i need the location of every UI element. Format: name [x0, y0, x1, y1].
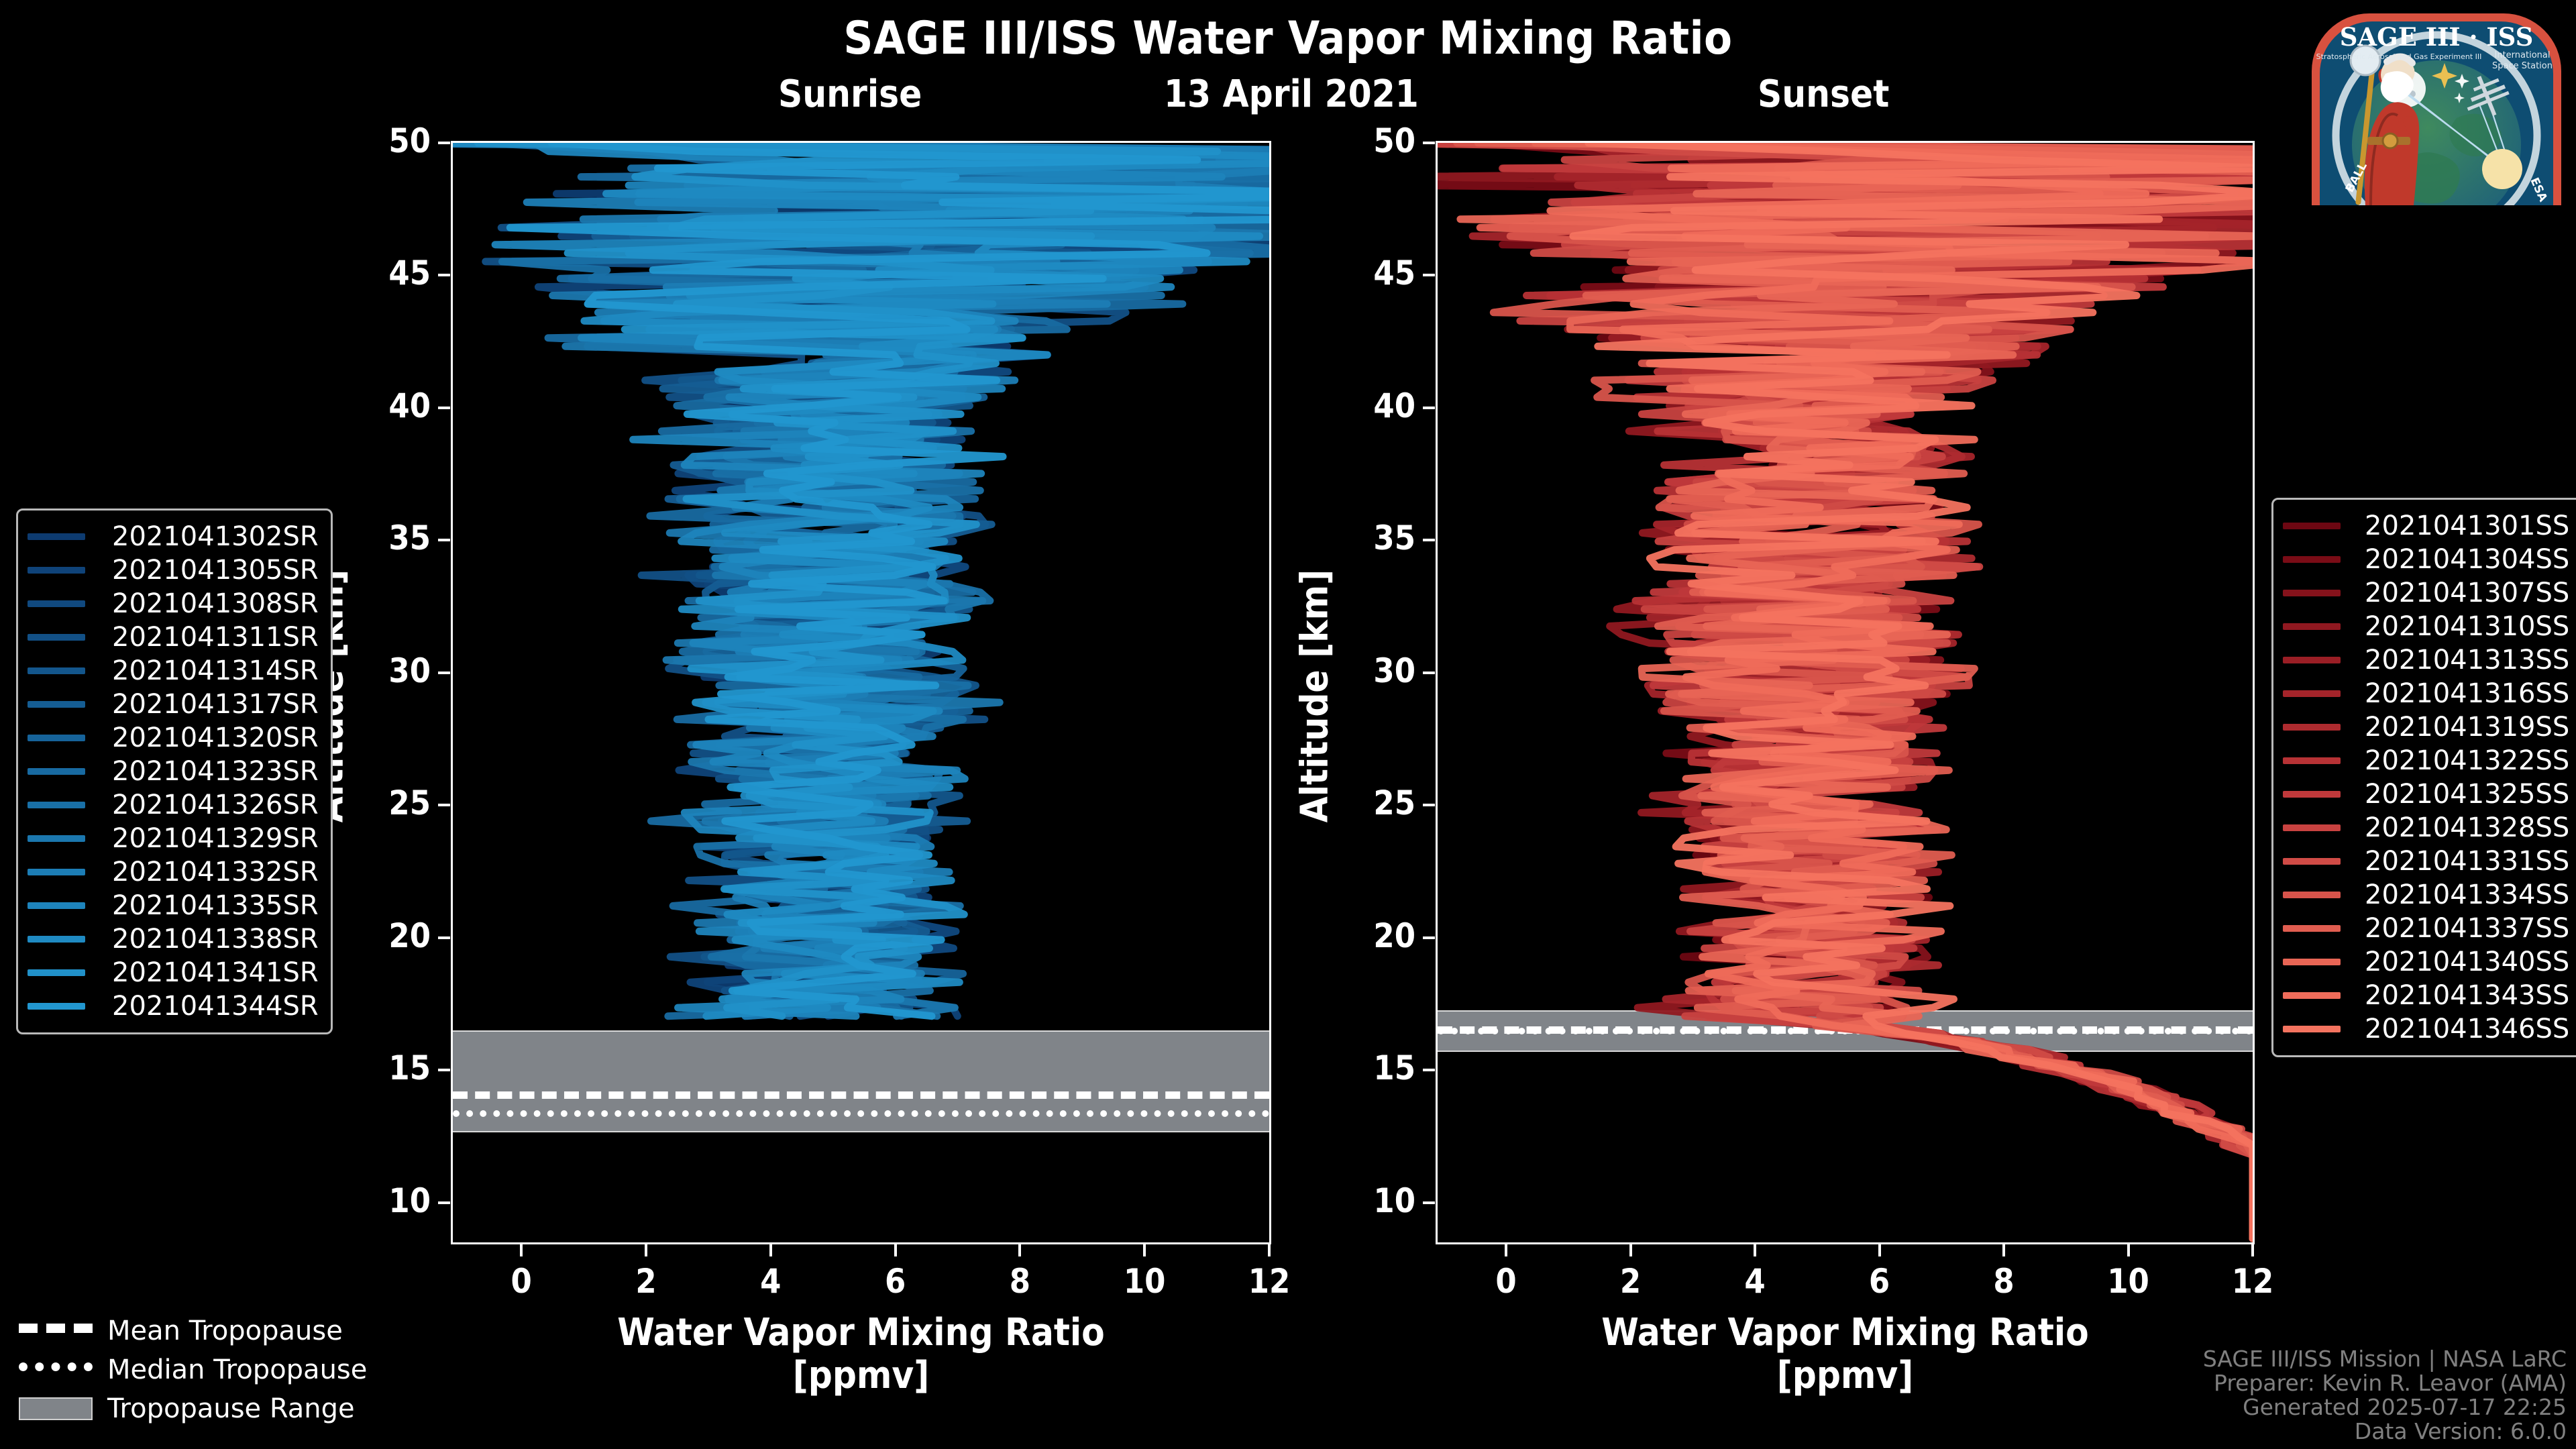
legend-item[interactable]: 2021041323SR [28, 755, 319, 788]
legend-item[interactable]: 2021041341SR [28, 956, 319, 989]
legend-item[interactable]: 2021041332SR [28, 855, 319, 889]
sunset-y-tick-label: 15 [1335, 1049, 1415, 1087]
sunset-y-tick-label: 50 [1335, 121, 1415, 160]
sunset-x-tick-label: 10 [2088, 1262, 2169, 1301]
legend-item[interactable]: 2021041337SS [2283, 912, 2569, 945]
patch-title: SAGE III · ISS [2340, 22, 2534, 52]
legend-item[interactable]: 2021041326SR [28, 788, 319, 822]
sunset-x-tickmark [1754, 1244, 1756, 1256]
sunset-y-tick-label: 10 [1335, 1181, 1415, 1220]
sunrise-y-tick-label: 25 [350, 784, 431, 822]
tropopause-legend-key-dash [19, 1324, 93, 1338]
sunrise-profile-lines [453, 143, 1269, 1242]
sunset-x-tickmark [1878, 1244, 1881, 1256]
legend-item[interactable]: 2021041328SS [2283, 811, 2569, 845]
tropopause-legend-item: Mean Tropopause [19, 1311, 367, 1350]
legend-color-swatch [2283, 556, 2341, 563]
sunrise-y-tickmark [438, 1069, 450, 1071]
legend-item-label: 2021041326SR [112, 790, 319, 820]
sunrise-y-tick-label: 35 [350, 519, 431, 557]
legend-item[interactable]: 2021041331SS [2283, 845, 2569, 878]
legend-item-label: 2021041335SR [112, 890, 319, 921]
legend-item[interactable]: 2021041322SS [2283, 744, 2569, 777]
sunrise-x-tickmark [1018, 1244, 1021, 1256]
legend-item-label: 2021041305SR [112, 555, 319, 586]
legend-item[interactable]: 2021041305SR [28, 553, 319, 587]
sunset-x-tick-label: 12 [2212, 1262, 2293, 1301]
legend-color-swatch [2283, 992, 2341, 999]
legend-item-label: 2021041308SR [112, 588, 319, 619]
legend-color-swatch [2283, 959, 2341, 965]
legend-item[interactable]: 2021041343SS [2283, 979, 2569, 1012]
legend-item[interactable]: 2021041314SR [28, 654, 319, 688]
sunset-y-tick-label: 25 [1335, 784, 1415, 822]
legend-item-label: 2021041346SS [2365, 1014, 2569, 1044]
legend-color-swatch [2283, 791, 2341, 798]
legend-item[interactable]: 2021041313SS [2283, 643, 2569, 677]
sunrise-x-tickmark [894, 1244, 897, 1256]
sunrise-y-tickmark [438, 804, 450, 806]
legend-color-swatch [2283, 757, 2341, 764]
legend-item-label: 2021041311SR [112, 622, 319, 653]
sunset-y-tickmark [1423, 274, 1435, 276]
sunset-x-tick-label: 2 [1591, 1262, 1671, 1301]
legend-item[interactable]: 2021041329SR [28, 822, 319, 855]
sunrise-y-tick-label: 45 [350, 254, 431, 292]
sunset-x-axis-title-line2: [ppmv] [1436, 1354, 2255, 1397]
legend-color-swatch [28, 969, 85, 976]
sunrise-y-tickmark [438, 539, 450, 541]
legend-color-swatch [28, 567, 85, 574]
legend-color-swatch [2283, 1026, 2341, 1032]
legend-item[interactable]: 2021041338SR [28, 922, 319, 956]
legend-color-swatch [28, 902, 85, 909]
sunrise-y-tick-label: 20 [350, 916, 431, 955]
legend-item[interactable]: 2021041325SS [2283, 777, 2569, 811]
legend-item-label: 2021041301SS [2365, 511, 2569, 541]
sunset-y-tickmark [1423, 936, 1435, 939]
legend-item[interactable]: 2021041302SR [28, 520, 319, 553]
observation-date: 13 April 2021 [1164, 72, 1419, 116]
legend-color-swatch [2283, 925, 2341, 932]
sunrise-x-tickmark [520, 1244, 523, 1256]
sunrise-x-tick-label: 10 [1104, 1262, 1185, 1301]
sunrise-x-axis-title-line1: Water Vapor Mixing Ratio [451, 1311, 1271, 1354]
legend-color-swatch [28, 735, 85, 741]
sunrise-x-axis-title: Water Vapor Mixing Ratio[ppmv] [451, 1311, 1271, 1397]
sunrise-x-tickmark [1268, 1244, 1271, 1256]
tropopause-legend: Mean TropopauseMedian TropopauseTropopau… [19, 1311, 367, 1428]
legend-color-swatch [2283, 858, 2341, 865]
legend-item[interactable]: 2021041340SS [2283, 945, 2569, 979]
legend-item[interactable]: 2021041335SR [28, 889, 319, 922]
sunrise-x-tick-label: 2 [606, 1262, 686, 1301]
legend-item-label: 2021041332SR [112, 857, 319, 888]
legend-item-label: 2021041320SR [112, 722, 319, 753]
sunset-y-tickmark [1423, 1201, 1435, 1204]
legend-item-label: 2021041328SS [2365, 812, 2569, 843]
legend-item-label: 2021041334SS [2365, 879, 2569, 910]
sunset-profile-lines [1438, 143, 2253, 1242]
sunset-x-tickmark [2002, 1244, 2005, 1256]
sunset-y-tickmark [1423, 142, 1435, 144]
credit-line: Data Version: 6.0.0 [2203, 1419, 2567, 1444]
tropopause-legend-label: Mean Tropopause [107, 1316, 343, 1346]
legend-item[interactable]: 2021041316SS [2283, 677, 2569, 710]
legend-color-swatch [28, 768, 85, 775]
sunrise-x-tick-label: 8 [979, 1262, 1060, 1301]
sunset-x-tickmark [2127, 1244, 2130, 1256]
page-title: SAGE III/ISS Water Vapor Mixing Ratio [0, 12, 2576, 65]
sunrise-y-tick-label: 30 [350, 651, 431, 690]
sunrise-y-tickmark [438, 274, 450, 276]
legend-color-swatch [2283, 892, 2341, 898]
sunset-x-axis-title-line1: Water Vapor Mixing Ratio [1436, 1311, 2255, 1354]
legend-item-label: 2021041322SS [2365, 745, 2569, 776]
credit-line: SAGE III/ISS Mission | NASA LaRC [2203, 1347, 2567, 1371]
legend-item[interactable]: 2021041311SR [28, 621, 319, 654]
legend-color-swatch [28, 667, 85, 674]
sunset-y-tick-label: 40 [1335, 386, 1415, 425]
sunset-x-tick-label: 6 [1839, 1262, 1920, 1301]
subtitle-row: Sunrise 13 April 2021 Sunset [0, 72, 2576, 121]
legend-item[interactable]: 2021041319SS [2283, 710, 2569, 744]
legend-color-swatch [2283, 724, 2341, 731]
legend-item-label: 2021041331SS [2365, 846, 2569, 877]
sunset-x-tickmark [1505, 1244, 1507, 1256]
legend-item[interactable]: 2021041344SR [28, 989, 319, 1023]
sunset-y-tick-label: 20 [1335, 916, 1415, 955]
legend-color-swatch [2283, 824, 2341, 831]
legend-item[interactable]: 2021041308SR [28, 587, 319, 621]
legend-item[interactable]: 2021041304SS [2283, 543, 2569, 576]
sunset-x-axis-title: Water Vapor Mixing Ratio[ppmv] [1436, 1311, 2255, 1397]
sunrise-plot-area[interactable] [451, 141, 1271, 1244]
tropopause-legend-item: Tropopause Range [19, 1389, 367, 1428]
legend-item-label: 2021041323SR [112, 756, 319, 787]
sunrise-series-legend[interactable]: 2021041302SR2021041305SR2021041308SR2021… [16, 508, 333, 1034]
sunset-y-tickmark [1423, 539, 1435, 541]
credit-line: Generated 2025-07-17 22:25 [2203, 1395, 2567, 1419]
legend-color-swatch [28, 1003, 85, 1010]
legend-item-label: 2021041304SS [2365, 544, 2569, 575]
figure-canvas: SAGE III/ISS Water Vapor Mixing Ratio Su… [0, 0, 2576, 1449]
sunset-x-tick-label: 0 [1466, 1262, 1546, 1301]
legend-color-swatch [28, 634, 85, 641]
legend-item-label: 2021041310SS [2365, 611, 2569, 642]
sunset-y-tick-label: 30 [1335, 651, 1415, 690]
legend-color-swatch [28, 533, 85, 540]
legend-item[interactable]: 2021041334SS [2283, 878, 2569, 912]
credits-block: SAGE III/ISS Mission | NASA LaRCPreparer… [2203, 1347, 2567, 1444]
legend-item-label: 2021041325SS [2365, 779, 2569, 810]
sunrise-x-axis-title-line2: [ppmv] [451, 1354, 1271, 1397]
legend-item[interactable]: 2021041301SS [2283, 509, 2569, 543]
legend-item-label: 2021041307SS [2365, 578, 2569, 608]
legend-color-swatch [28, 802, 85, 808]
sunrise-x-tickmark [1143, 1244, 1146, 1256]
legend-item-label: 2021041343SS [2365, 980, 2569, 1011]
sunrise-y-tickmark [438, 936, 450, 939]
sunrise-x-tickmark [769, 1244, 772, 1256]
legend-item-label: 2021041340SS [2365, 947, 2569, 977]
legend-item-label: 2021041316SS [2365, 678, 2569, 709]
legend-item-label: 2021041313SS [2365, 645, 2569, 676]
legend-color-swatch [2283, 523, 2341, 529]
legend-color-swatch [2283, 690, 2341, 697]
sunrise-y-tickmark [438, 1201, 450, 1204]
legend-item-label: 2021041329SR [112, 823, 319, 854]
legend-color-swatch [2283, 623, 2341, 630]
sunrise-x-tickmark [645, 1244, 647, 1256]
sunset-y-tickmark [1423, 407, 1435, 409]
tropopause-legend-item: Median Tropopause [19, 1350, 367, 1389]
sunset-y-tickmark [1423, 1069, 1435, 1071]
legend-color-swatch [28, 936, 85, 943]
legend-item[interactable]: 2021041307SS [2283, 576, 2569, 610]
sunset-x-tickmark [2251, 1244, 2254, 1256]
tropopause-legend-key-box [19, 1397, 93, 1420]
sunset-plot-area[interactable] [1436, 141, 2255, 1244]
sunrise-y-tick-label: 50 [350, 121, 431, 160]
sunset-panel-title: Sunset [1758, 72, 1889, 116]
legend-color-swatch [2283, 590, 2341, 596]
legend-color-swatch [28, 600, 85, 607]
legend-item[interactable]: 2021041310SS [2283, 610, 2569, 643]
legend-item-label: 2021041302SR [112, 521, 319, 552]
legend-color-swatch [28, 869, 85, 875]
sunrise-panel-title: Sunrise [778, 72, 922, 116]
sunset-series-legend[interactable]: 2021041301SS2021041304SS2021041307SS2021… [2271, 498, 2576, 1057]
legend-item[interactable]: 2021041320SR [28, 721, 319, 755]
sunset-y-tickmark [1423, 804, 1435, 806]
sunrise-x-tick-label: 12 [1229, 1262, 1309, 1301]
sunset-y-tick-label: 35 [1335, 519, 1415, 557]
legend-color-swatch [28, 835, 85, 842]
sunset-y-tick-label: 45 [1335, 254, 1415, 292]
patch-subtitle-right-1: International [2495, 50, 2551, 60]
legend-item-label: 2021041344SR [112, 991, 319, 1022]
sunrise-y-tickmark [438, 672, 450, 674]
legend-item-label: 2021041341SR [112, 957, 319, 988]
sunrise-x-tick-label: 0 [481, 1262, 561, 1301]
sunrise-y-tickmark [438, 142, 450, 144]
legend-item-label: 2021041314SR [112, 655, 319, 686]
legend-color-swatch [28, 701, 85, 708]
patch-subtitle-right-2: Space Station [2492, 61, 2553, 71]
tropopause-legend-label: Tropopause Range [107, 1393, 355, 1424]
credit-line: Preparer: Kevin R. Leavor (AMA) [2203, 1371, 2567, 1395]
tropopause-legend-key-dot [19, 1362, 93, 1377]
legend-item-label: 2021041338SR [112, 924, 319, 955]
legend-color-swatch [2283, 657, 2341, 663]
sunset-y-tickmark [1423, 672, 1435, 674]
sunrise-y-tick-label: 15 [350, 1049, 431, 1087]
sunrise-y-tick-label: 10 [350, 1181, 431, 1220]
tropopause-legend-label: Median Tropopause [107, 1354, 367, 1385]
patch-subtitle-left: Stratospheric Aerosol and Gas Experiment… [2316, 52, 2482, 61]
legend-item[interactable]: 2021041317SR [28, 688, 319, 721]
sunrise-y-tick-label: 40 [350, 386, 431, 425]
legend-item-label: 2021041317SR [112, 689, 319, 720]
legend-item-label: 2021041319SS [2365, 712, 2569, 743]
sunrise-x-tick-label: 6 [855, 1262, 936, 1301]
sunset-y-axis-title: Altitude [km] [1293, 494, 1337, 897]
legend-item[interactable]: 2021041346SS [2283, 1012, 2569, 1046]
sunrise-y-tickmark [438, 407, 450, 409]
sage-iii-iss-mission-patch-logo: SAGE III · ISS Stratospheric Aerosol and… [2301, 4, 2572, 205]
sunset-x-tick-label: 8 [1964, 1262, 2044, 1301]
sunset-x-tickmark [1629, 1244, 1632, 1256]
legend-item-label: 2021041337SS [2365, 913, 2569, 944]
sunrise-x-tick-label: 4 [731, 1262, 811, 1301]
sunset-x-tick-label: 4 [1715, 1262, 1795, 1301]
